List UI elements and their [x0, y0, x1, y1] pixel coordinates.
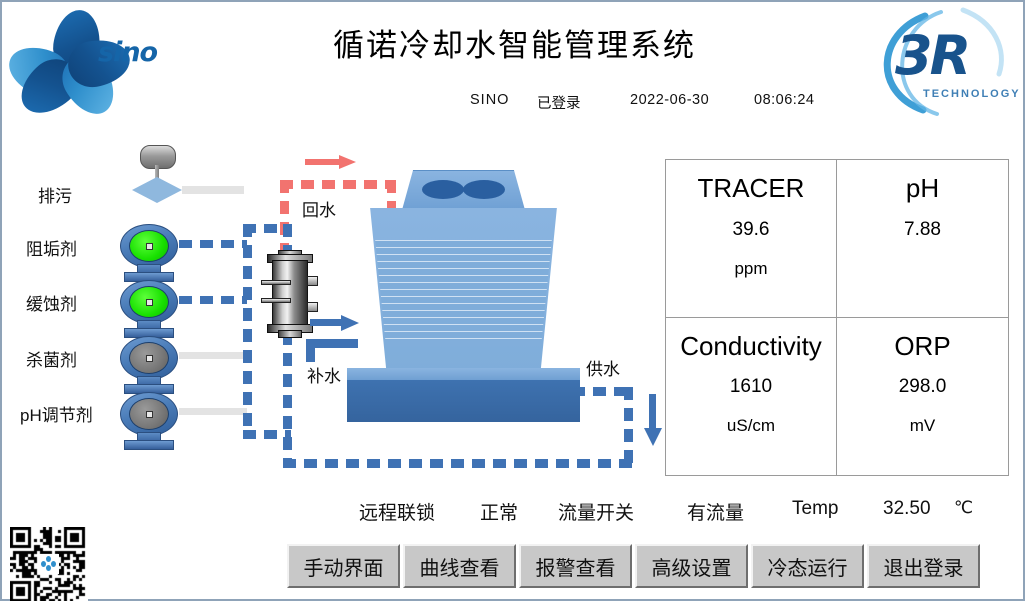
measurement-panel: TRACER 39.6 ppm pH 7.88 Conductivity 161…: [665, 159, 1009, 476]
label-corrosion-inhibitor: 缓蚀剂: [26, 290, 77, 315]
fan-blade-icon: [463, 180, 505, 199]
readout-unit: mV: [910, 416, 936, 436]
fan-blade-icon: [422, 180, 464, 199]
sensor-probe-lower: [261, 298, 291, 303]
cooling-tower-basin: [347, 380, 580, 422]
logout-button[interactable]: 退出登录: [867, 544, 980, 588]
dosing-line-biocide: [179, 352, 247, 359]
pump-hub: [146, 299, 153, 306]
readout-unit: uS/cm: [727, 416, 775, 436]
chamber-bottom-port: [278, 330, 302, 338]
supply-pipe-horizontal: [572, 387, 632, 396]
pump-hub: [146, 411, 153, 418]
application-window: sino 3R TECHNOLOGY 循诺冷却水智能管理系统 SINO 已登录 …: [0, 0, 1025, 601]
readout-ph: pH 7.88: [837, 160, 1008, 318]
temperature-unit: ℃: [954, 498, 973, 518]
readout-name: Conductivity: [680, 332, 822, 361]
blowdown-pipe: [182, 186, 244, 194]
flow-label-return: 回水: [300, 196, 338, 221]
loop-pipe-chamber-out: [283, 332, 292, 467]
readout-orp: ORP 298.0 mV: [837, 318, 1008, 476]
readout-tracer: TRACER 39.6 ppm: [666, 160, 837, 318]
label-blowdown: 排污: [38, 182, 72, 207]
temperature-value: 32.50: [883, 498, 931, 520]
readout-value: 39.6: [733, 219, 770, 241]
flow-label-makeup: 补水: [305, 362, 343, 387]
remote-interlock-label: 远程联锁: [359, 498, 435, 525]
label-biocide: 杀菌剂: [26, 346, 77, 371]
readout-name: TRACER: [698, 174, 805, 203]
advanced-settings-button[interactable]: 高级设置: [635, 544, 748, 588]
readout-conductivity: Conductivity 1610 uS/cm: [666, 318, 837, 476]
cooling-tower-fan-housing: [402, 170, 525, 210]
readout-value: 7.88: [904, 219, 941, 241]
alarm-view-button[interactable]: 报警查看: [519, 544, 632, 588]
remote-interlock-value: 正常: [480, 498, 518, 525]
label-antiscalant: 阻垢剂: [26, 235, 77, 260]
makeup-pipe-horizontal: [306, 339, 358, 348]
page-title: 循诺冷却水智能管理系统: [2, 20, 1025, 65]
curve-view-button[interactable]: 曲线查看: [403, 544, 516, 588]
chamber-body: [272, 260, 308, 328]
readout-value: 1610: [730, 376, 772, 398]
current-user: SINO: [470, 92, 509, 108]
readout-value: 298.0: [899, 376, 947, 398]
dosing-line-corrosion-inhibitor: [179, 296, 247, 304]
pump-ph-adjuster[interactable]: [118, 392, 180, 448]
sensor-chamber-icon[interactable]: [267, 250, 311, 336]
manual-interface-button[interactable]: 手动界面: [287, 544, 400, 588]
dosing-line-ph-adjuster: [179, 408, 247, 415]
readout-name: ORP: [894, 332, 950, 361]
dosing-line-antiscalant: [179, 240, 247, 248]
readout-name: pH: [906, 174, 939, 203]
status-bar: 远程联锁 正常 流量开关 有流量 Temp 32.50 ℃: [2, 498, 1025, 528]
loop-pipe-left: [243, 224, 252, 439]
qr-code-logo: [39, 554, 59, 574]
pump-hub: [146, 243, 153, 250]
sensor-probe-upper: [261, 280, 291, 285]
pump-corrosion-inhibitor[interactable]: [118, 280, 180, 336]
system-time: 08:06:24: [754, 92, 814, 108]
pump-hub: [146, 355, 153, 362]
blowdown-valve-icon[interactable]: [126, 145, 188, 201]
pump-biocide[interactable]: [118, 336, 180, 392]
chamber-nozzle-lower: [307, 302, 318, 312]
valve-wedge-right: [157, 177, 182, 203]
pump-antiscalant[interactable]: [118, 224, 180, 280]
label-ph-adjuster: pH调节剂: [20, 401, 93, 426]
cooling-tower-louvers: [362, 240, 565, 340]
loop-pipe-return-bottom: [283, 459, 633, 468]
flow-label-supply: 供水: [584, 355, 622, 380]
supply-pipe-vertical: [624, 387, 633, 467]
login-status: 已登录: [537, 92, 581, 113]
qr-code: [10, 527, 88, 601]
chamber-nozzle-upper: [307, 276, 318, 286]
system-date: 2022-06-30: [630, 92, 709, 108]
valve-wedge-left: [132, 177, 157, 203]
header-info-row: SINO 已登录 2022-06-30 08:06:24: [2, 92, 1025, 114]
cold-start-run-button[interactable]: 冷态运行: [751, 544, 864, 588]
return-pipe-top: [280, 180, 396, 189]
temperature-label: Temp: [792, 498, 838, 520]
button-bar: 手动界面 曲线查看 报警查看 高级设置 冷态运行 退出登录: [287, 544, 980, 588]
flow-switch-label: 流量开关: [558, 498, 634, 525]
readout-unit: ppm: [734, 259, 767, 279]
pump-base: [124, 440, 174, 450]
flow-switch-value: 有流量: [687, 498, 744, 525]
